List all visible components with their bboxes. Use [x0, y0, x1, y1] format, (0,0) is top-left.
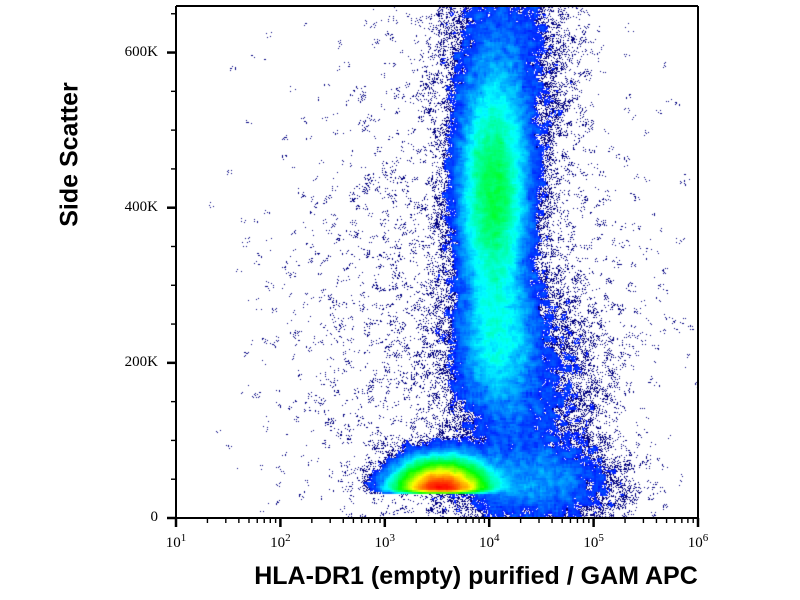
scatter-density-plot — [176, 6, 698, 518]
x-tick-exponent: 2 — [285, 532, 291, 544]
y-tick-label: 600K — [98, 44, 158, 61]
x-tick-exponent: 6 — [703, 532, 709, 544]
x-axis-title: HLA-DR1 (empty) purified / GAM APC — [176, 562, 776, 591]
x-tick-mantissa: 10 — [479, 535, 494, 551]
x-tick-exponent: 1 — [181, 532, 187, 544]
x-tick-label: 103 — [360, 532, 410, 552]
y-tick-label: 200K — [98, 354, 158, 371]
x-tick-mantissa: 10 — [270, 535, 285, 551]
x-tick-label: 106 — [673, 532, 723, 552]
x-tick-label: 102 — [255, 532, 305, 552]
x-tick-label: 104 — [464, 532, 514, 552]
x-tick-label: 105 — [569, 532, 619, 552]
x-tick-exponent: 5 — [598, 532, 604, 544]
x-tick-label: 101 — [151, 532, 201, 552]
x-tick-mantissa: 10 — [583, 535, 598, 551]
y-tick-label: 0 — [98, 509, 158, 526]
x-tick-mantissa: 10 — [375, 535, 390, 551]
x-tick-exponent: 3 — [390, 532, 396, 544]
flow-cytometry-figure: Side Scatter 0200K400K600K 1011021031041… — [0, 0, 800, 600]
y-axis-title: Side Scatter — [56, 25, 85, 285]
y-tick-label: 400K — [98, 199, 158, 216]
x-tick-mantissa: 10 — [166, 535, 181, 551]
x-tick-exponent: 4 — [494, 532, 500, 544]
x-tick-mantissa: 10 — [688, 535, 703, 551]
